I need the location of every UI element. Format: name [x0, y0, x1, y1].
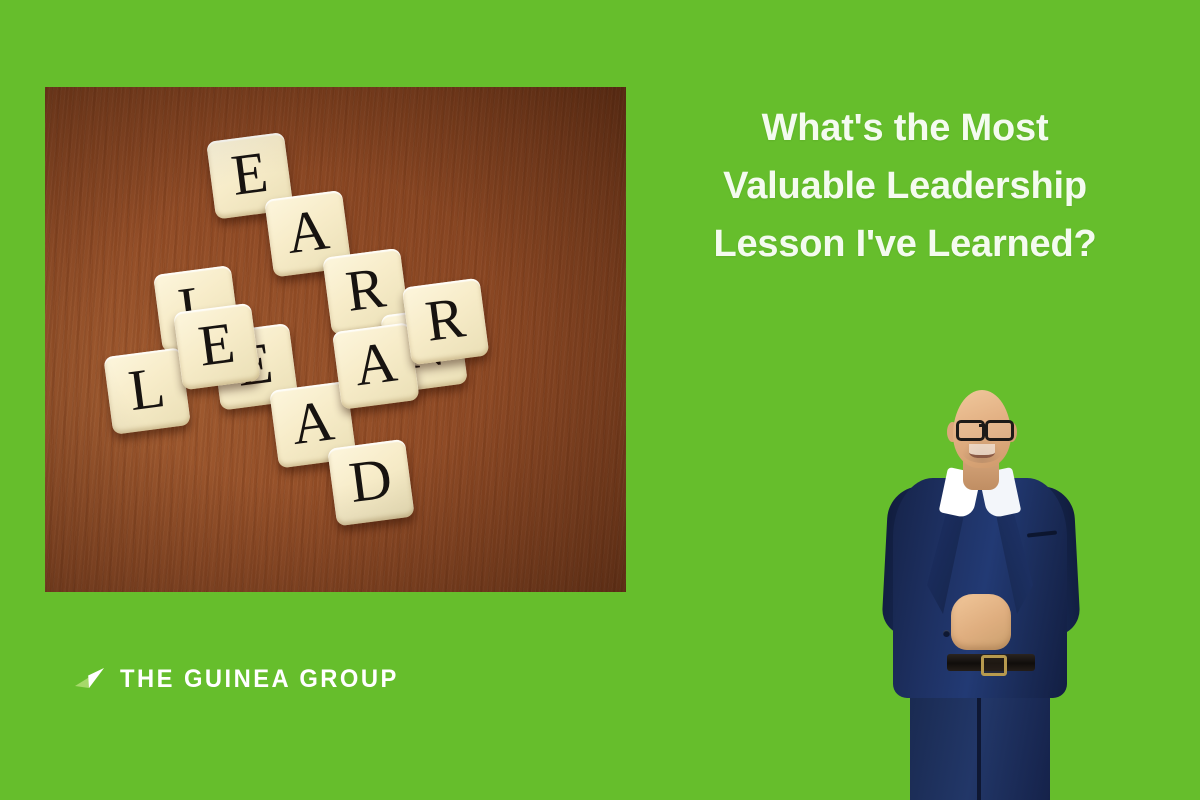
headline-line-1: What's the Most [655, 100, 1155, 158]
clasped-hands [951, 594, 1011, 650]
brand-logo[interactable]: THE GUINEA GROUP [74, 662, 413, 696]
headline-line-3: Lesson I've Learned? [655, 216, 1155, 274]
presenter-photo [855, 382, 1105, 800]
glasses-right-lens-icon [985, 420, 1014, 441]
headline-line-2: Valuable Leadership [655, 158, 1155, 216]
smile [969, 444, 995, 458]
brand-logo-text: THE GUINEA GROUP [120, 665, 399, 694]
glasses-bridge-icon [979, 424, 985, 427]
page-title: What's the Most Valuable Leadership Less… [655, 100, 1155, 273]
scrabble-tiles-image: EARNLEADLEAR [45, 87, 626, 592]
photo-vignette [45, 87, 626, 592]
arrow-mark-icon [74, 662, 108, 696]
jacket-button [943, 630, 950, 637]
slide-canvas: EARNLEADLEAR What's the Most Valuable Le… [0, 0, 1200, 800]
belt-buckle [981, 655, 1007, 676]
